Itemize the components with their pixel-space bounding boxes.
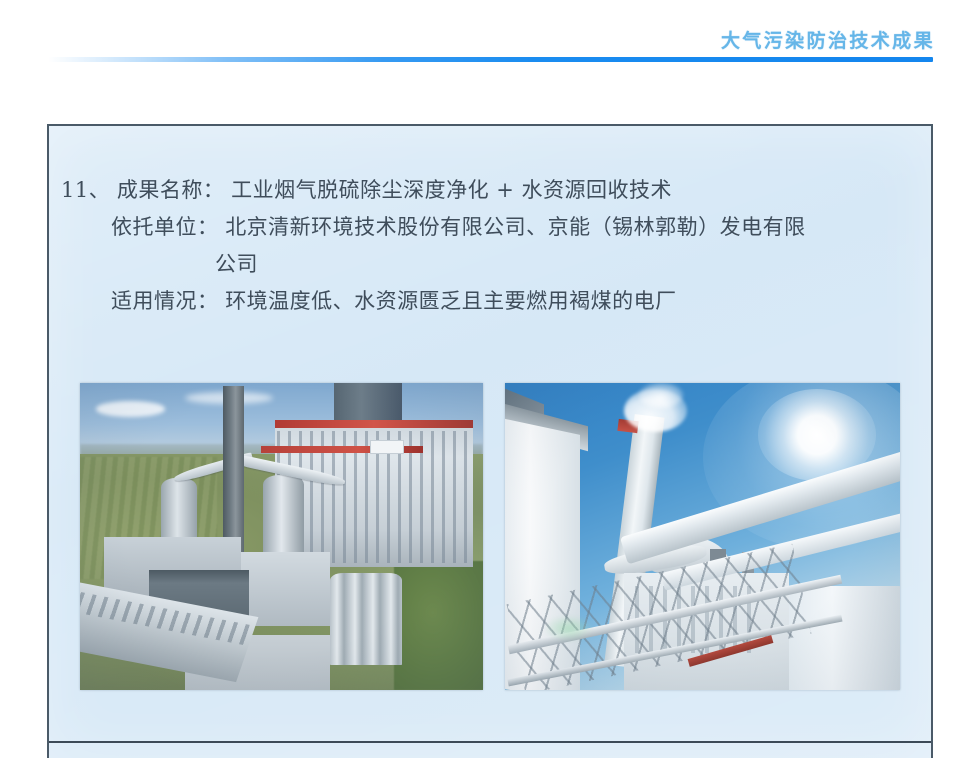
page-header: 大气污染防治技术成果 — [0, 0, 971, 72]
header-divider-rule — [48, 57, 933, 62]
auxiliary-building — [241, 552, 330, 626]
field-value-application: 环境温度低、水资源匮乏且主要燃用褐煤的电厂 — [225, 289, 677, 313]
page-header-title: 大气污染防治技术成果 — [721, 26, 935, 53]
field-label-name: 成果名称： — [117, 178, 225, 202]
lens-flare — [545, 616, 592, 641]
text-row-application: 适用情况： 环境温度低、水资源匮乏且主要燃用褐煤的电厂 — [61, 283, 917, 320]
cloud-shape — [96, 401, 165, 416]
stack-plume-photo — [505, 383, 900, 690]
field-value-unit: 北京清新环境技术股份有限公司、京能（锡林郭勒）发电有限 — [225, 215, 806, 239]
power-plant-aerial-photo — [80, 383, 483, 690]
absorber-tower — [263, 475, 303, 555]
green-belt — [394, 561, 483, 690]
slide-content-frame: 11、 成果名称： 工业烟气脱硫除尘深度净化 + 水资源回收技术 依托单位： 北… — [47, 124, 933, 758]
text-row-unit-cont: 公司 — [61, 246, 917, 283]
field-label-unit: 依托单位： — [111, 215, 219, 239]
item-number: 11、 — [61, 178, 110, 202]
red-roof-band — [275, 420, 472, 428]
field-value-name: 工业烟气脱硫除尘深度净化 + 水资源回收技术 — [231, 178, 672, 202]
field-value-unit-continued: 公司 — [215, 252, 258, 276]
achievement-text-block: 11、 成果名称： 工业烟气脱硫除尘深度净化 + 水资源回收技术 依托单位： 北… — [61, 172, 917, 320]
section-divider-line — [49, 741, 931, 743]
field-label-application: 适用情况： — [111, 289, 219, 313]
coal-silo-cluster — [330, 573, 403, 665]
text-row-title: 11、 成果名称： 工业烟气脱硫除尘深度净化 + 水资源回收技术 — [61, 172, 917, 209]
text-row-unit: 依托单位： 北京清新环境技术股份有限公司、京能（锡林郭勒）发电有限 — [61, 209, 917, 246]
white-steam-plume — [639, 383, 682, 408]
building-signboard — [370, 440, 404, 454]
